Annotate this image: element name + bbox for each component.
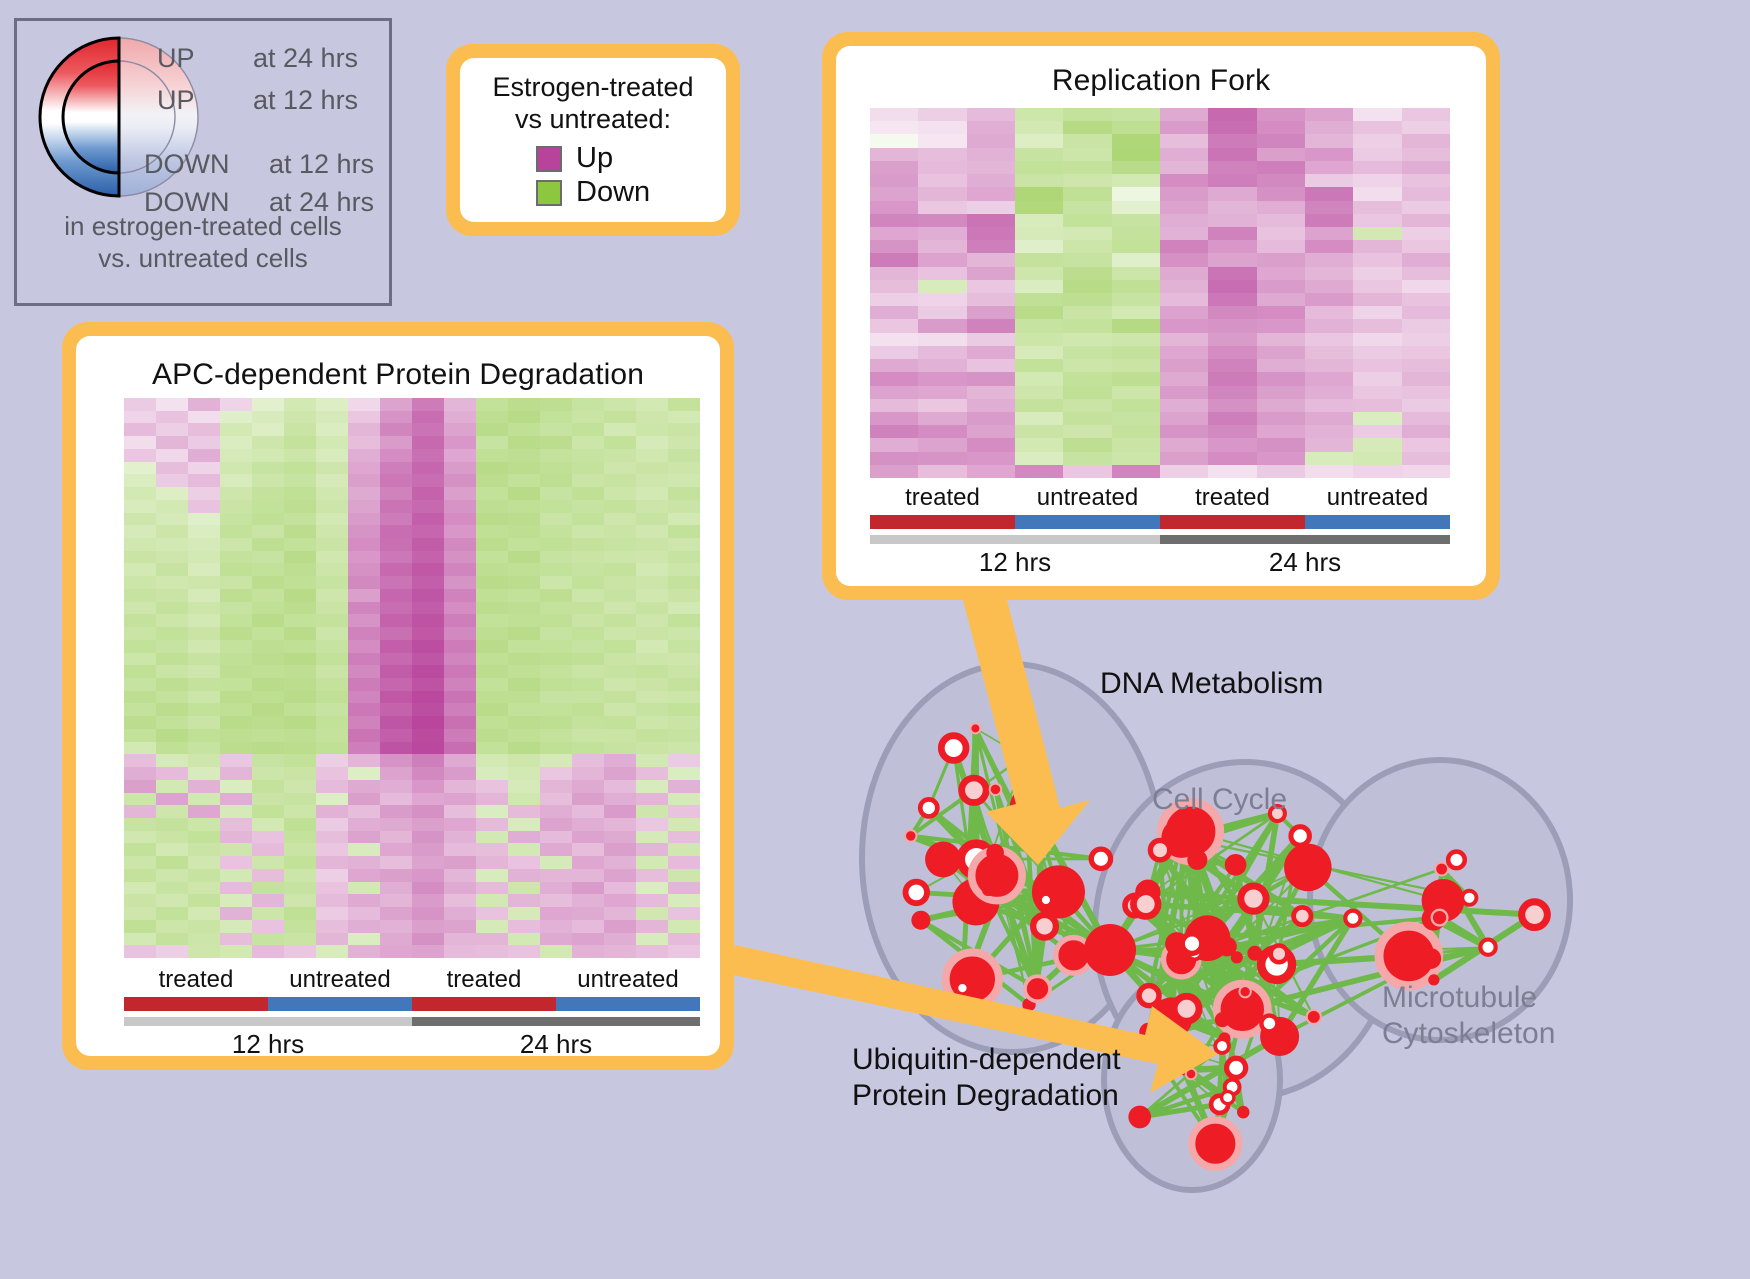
- heatmap-cell: [508, 920, 540, 933]
- heatmap-cell: [444, 907, 476, 920]
- heatmap-cell: [1112, 267, 1160, 280]
- heatmap-cell: [348, 933, 380, 946]
- heatmap-cell: [220, 563, 252, 576]
- heatmap-cell: [316, 920, 348, 933]
- heatmap-cell: [220, 665, 252, 678]
- heatmap-cell: [380, 563, 412, 576]
- heatmap-cell: [220, 423, 252, 436]
- heatmap-cell: [412, 563, 444, 576]
- heatmap-cell: [967, 372, 1015, 385]
- heatmap-cell: [124, 653, 156, 666]
- heatmap-cell: [1402, 280, 1450, 293]
- heatmap-cell: [604, 882, 636, 895]
- heatmap-cell: [380, 703, 412, 716]
- heatmap-cell: [870, 359, 918, 372]
- heatmap-cell: [444, 576, 476, 589]
- heatmap-cell: [1402, 134, 1450, 147]
- heatmap-cell: [316, 945, 348, 958]
- heatmap-cell: [636, 856, 668, 869]
- heatmap-cell: [1160, 121, 1208, 134]
- heatmap-cell: [252, 423, 284, 436]
- heatmap-cell: [444, 831, 476, 844]
- heatmap-cell: [1305, 148, 1353, 161]
- heatmap-cell: [316, 907, 348, 920]
- heatmap-cell: [1257, 174, 1305, 187]
- axis-treatment-segment: [412, 997, 556, 1011]
- heatmap-cell: [220, 742, 252, 755]
- heatmap-cell: [1160, 372, 1208, 385]
- heatmap-cell: [156, 920, 188, 933]
- heatmap-cell: [1208, 372, 1256, 385]
- heatmap-cell: [348, 920, 380, 933]
- legend-heading-line1: Estrogen-treated: [460, 72, 726, 104]
- network-node: [957, 982, 968, 993]
- heatmap-cell: [508, 945, 540, 958]
- heatmap-cell: [508, 525, 540, 538]
- heatmap-cell: [1015, 121, 1063, 134]
- heatmap-cell: [348, 462, 380, 475]
- heatmap-cell: [316, 678, 348, 691]
- heatmap-cell: [604, 818, 636, 831]
- heatmap-cell: [636, 513, 668, 526]
- heatmap-cell: [252, 640, 284, 653]
- heatmap-cell: [604, 742, 636, 755]
- heatmap-cell: [1160, 412, 1208, 425]
- heatmap-cell: [636, 627, 668, 640]
- heatmap-cell: [412, 742, 444, 755]
- heatmap-cell: [604, 691, 636, 704]
- heatmap-cell: [316, 933, 348, 946]
- heatmap-cell: [668, 563, 700, 576]
- heatmap-cell: [1402, 386, 1450, 399]
- heatmap-cell: [348, 640, 380, 653]
- heatmap-cell: [572, 856, 604, 869]
- heatmap-cell: [1257, 280, 1305, 293]
- heatmap-cell: [604, 894, 636, 907]
- heatmap-cell: [284, 500, 316, 513]
- heatmap-cell: [1257, 214, 1305, 227]
- key-footer-line1: in estrogen-treated cells: [17, 211, 389, 243]
- heatmap-cell: [252, 767, 284, 780]
- axis-treatment-bar: [870, 515, 1450, 529]
- axis-group-label: treated: [1160, 484, 1305, 512]
- heatmap-cell: [604, 716, 636, 729]
- heatmap-cell: [1402, 121, 1450, 134]
- heatmap-cell: [967, 452, 1015, 465]
- heatmap-cell: [1257, 319, 1305, 332]
- network-node: [1448, 852, 1465, 869]
- network-node: [1261, 1016, 1277, 1032]
- heatmap-cell: [668, 602, 700, 615]
- heatmap-cell: [1353, 267, 1401, 280]
- network-node: [1018, 751, 1030, 763]
- heatmap-cell: [348, 449, 380, 462]
- heatmap-cell: [1015, 438, 1063, 451]
- heatmap-cell: [316, 729, 348, 742]
- heatmap-cell: [444, 602, 476, 615]
- heatmap-cell: [476, 691, 508, 704]
- key-time-0: at 24 hrs: [253, 43, 358, 74]
- heatmap-cell: [668, 551, 700, 564]
- heatmap-cell: [124, 500, 156, 513]
- heatmap-cell: [967, 280, 1015, 293]
- heatmap-cell: [220, 945, 252, 958]
- heatmap-cell: [412, 436, 444, 449]
- network-node: [1294, 907, 1311, 924]
- heatmap-cell: [636, 589, 668, 602]
- heatmap-cell: [604, 665, 636, 678]
- heatmap-cell: [918, 134, 966, 147]
- heatmap-cell: [316, 767, 348, 780]
- heatmap-cell: [508, 653, 540, 666]
- heatmap-cell: [604, 449, 636, 462]
- heatmap-cell: [636, 487, 668, 500]
- heatmap-cell: [1015, 412, 1063, 425]
- heatmap-cell: [636, 780, 668, 793]
- heatmap-cell: [348, 538, 380, 551]
- heatmap-cell: [476, 793, 508, 806]
- heatmap-cell: [188, 449, 220, 462]
- heatmap-cell: [156, 500, 188, 513]
- heatmap-cell: [188, 665, 220, 678]
- heatmap-cell: [220, 869, 252, 882]
- heatmap-cell: [412, 780, 444, 793]
- heatmap-cell: [188, 411, 220, 424]
- heatmap-cell: [284, 487, 316, 500]
- heatmap-cell: [156, 538, 188, 551]
- heatmap-cell: [636, 525, 668, 538]
- heatmap-cell: [1063, 227, 1111, 240]
- heatmap-cell: [252, 589, 284, 602]
- heatmap-cell: [188, 640, 220, 653]
- heatmap-cell: [188, 945, 220, 958]
- heatmap-cell: [380, 500, 412, 513]
- heatmap-cell: [444, 449, 476, 462]
- heatmap-cell: [1402, 267, 1450, 280]
- heatmap-cell: [870, 465, 918, 478]
- heatmap-cell: [444, 474, 476, 487]
- heatmap-cell: [967, 121, 1015, 134]
- heatmap-cell: [1112, 319, 1160, 332]
- heatmap-cell: [540, 831, 572, 844]
- heatmap-cell: [124, 538, 156, 551]
- heatmap-cell: [918, 121, 966, 134]
- heatmap-cell: [967, 293, 1015, 306]
- heatmap-cell: [1063, 253, 1111, 266]
- heatmap-cell: [476, 525, 508, 538]
- heatmap-cell: [508, 640, 540, 653]
- heatmap-cell: [918, 214, 966, 227]
- heatmap-cell: [380, 754, 412, 767]
- heatmap-cell: [220, 856, 252, 869]
- heatmap-cell: [508, 691, 540, 704]
- heatmap-cell: [1402, 452, 1450, 465]
- heatmap-cell: [444, 614, 476, 627]
- heatmap-cell: [316, 793, 348, 806]
- heatmap-cell: [604, 538, 636, 551]
- heatmap-cell: [252, 856, 284, 869]
- axis-time-label: 12 hrs: [870, 547, 1160, 578]
- heatmap-cell: [1015, 108, 1063, 121]
- heatmap-cell: [1208, 253, 1256, 266]
- heatmap-cell: [604, 703, 636, 716]
- heatmap-cell: [412, 691, 444, 704]
- heatmap-cell: [412, 538, 444, 551]
- axis-time-labels: 12 hrs24 hrs: [124, 1029, 700, 1056]
- heatmap-cell: [444, 742, 476, 755]
- heatmap-cell: [1160, 359, 1208, 372]
- heatmap-cell: [188, 703, 220, 716]
- heatmap-cell: [412, 500, 444, 513]
- heatmap-cell: [918, 372, 966, 385]
- heatmap-cell: [380, 793, 412, 806]
- heatmap-cell: [476, 907, 508, 920]
- heatmap-cell: [918, 201, 966, 214]
- heatmap-cell: [188, 729, 220, 742]
- heatmap-cell: [540, 627, 572, 640]
- heatmap-cell: [476, 665, 508, 678]
- network-node: [1133, 892, 1158, 917]
- heatmap-cell: [476, 563, 508, 576]
- heatmap-cell: [540, 742, 572, 755]
- heatmap-cell: [124, 805, 156, 818]
- heatmap-cell: [668, 907, 700, 920]
- cluster-label-cell-cycle: Cell Cycle: [1152, 782, 1287, 818]
- heatmap-cell: [124, 602, 156, 615]
- heatmap-cell: [252, 907, 284, 920]
- heatmap-cell: [188, 474, 220, 487]
- network-node: [1215, 1039, 1229, 1053]
- heatmap-cell: [1063, 108, 1111, 121]
- heatmap-cell: [1015, 386, 1063, 399]
- heatmap-cell: [668, 640, 700, 653]
- heatmap-cell: [220, 754, 252, 767]
- heatmap-cell: [572, 487, 604, 500]
- heatmap-cell: [636, 691, 668, 704]
- heatmap-cell: [380, 742, 412, 755]
- network-node: [970, 723, 980, 733]
- heatmap-cell: [284, 614, 316, 627]
- network-node: [911, 911, 930, 930]
- heatmap-cell: [380, 665, 412, 678]
- heatmap-cell: [1305, 372, 1353, 385]
- heatmap-cell: [220, 894, 252, 907]
- heatmap-cell: [188, 742, 220, 755]
- heatmap-cell: [1208, 359, 1256, 372]
- heatmap-cell: [1015, 201, 1063, 214]
- heatmap-cell: [540, 398, 572, 411]
- heatmap-cell: [476, 742, 508, 755]
- heatmap-cell: [1160, 306, 1208, 319]
- heatmap-cell: [1160, 333, 1208, 346]
- heatmap-cell: [1305, 280, 1353, 293]
- heatmap-cell: [380, 869, 412, 882]
- heatmap-cell: [412, 856, 444, 869]
- heatmap-cell: [316, 614, 348, 627]
- heatmap-cell: [540, 907, 572, 920]
- heatmap-cell: [252, 793, 284, 806]
- heatmap-cell: [967, 267, 1015, 280]
- heatmap-cell: [316, 449, 348, 462]
- heatmap-cell: [1257, 161, 1305, 174]
- heatmap-cell: [636, 678, 668, 691]
- heatmap-cell: [1257, 134, 1305, 147]
- heatmap-cell: [572, 589, 604, 602]
- heatmap-cell: [668, 678, 700, 691]
- network-node: [1187, 850, 1207, 870]
- heatmap-cell: [1112, 253, 1160, 266]
- network-node: [1284, 844, 1332, 892]
- heatmap-cell: [124, 665, 156, 678]
- heatmap-cell: [156, 703, 188, 716]
- heatmap-cell: [124, 793, 156, 806]
- axis-treatment-bar: [124, 997, 700, 1011]
- heatmap-cell: [1112, 108, 1160, 121]
- heatmap-cell: [668, 538, 700, 551]
- heatmap-cell: [918, 465, 966, 478]
- heatmap-cell: [572, 742, 604, 755]
- heatmap-cell: [1015, 240, 1063, 253]
- apc-axis: treateduntreatedtreateduntreated12 hrs24…: [124, 966, 700, 1056]
- heatmap-cell: [1305, 174, 1353, 187]
- heatmap-cell: [444, 525, 476, 538]
- heatmap-cell: [540, 805, 572, 818]
- network-node: [1032, 865, 1085, 918]
- heatmap-cell: [572, 716, 604, 729]
- heatmap-cell: [412, 449, 444, 462]
- network-node: [1239, 986, 1250, 997]
- heatmap-cell: [284, 474, 316, 487]
- heatmap-cell: [1402, 240, 1450, 253]
- heatmap-cell: [476, 640, 508, 653]
- heatmap-cell: [412, 843, 444, 856]
- heatmap-cell: [412, 805, 444, 818]
- heatmap-cell: [188, 716, 220, 729]
- heatmap-cell: [636, 436, 668, 449]
- heatmap-cell: [1160, 267, 1208, 280]
- heatmap-cell: [572, 678, 604, 691]
- heatmap-cell: [188, 513, 220, 526]
- heatmap-cell: [1305, 108, 1353, 121]
- heatmap-cell: [1208, 134, 1256, 147]
- heatmap-cell: [508, 767, 540, 780]
- heatmap-cell: [444, 423, 476, 436]
- key-time-2: at 12 hrs: [269, 149, 374, 180]
- heatmap-cell: [870, 267, 918, 280]
- heatmap-cell: [1160, 134, 1208, 147]
- heatmap-cell: [636, 907, 668, 920]
- heatmap-cell: [156, 449, 188, 462]
- heatmap-cell: [572, 436, 604, 449]
- key-state-2: DOWN: [144, 149, 229, 180]
- heatmap-cell: [1353, 425, 1401, 438]
- heatmap-cell: [540, 793, 572, 806]
- heatmap-cell: [284, 856, 316, 869]
- heatmap-cell: [412, 907, 444, 920]
- heatmap-cell: [220, 920, 252, 933]
- heatmap-cell: [604, 589, 636, 602]
- heatmap-cell: [604, 869, 636, 882]
- heatmap-cell: [220, 767, 252, 780]
- heatmap-cell: [124, 754, 156, 767]
- heatmap-cell: [220, 805, 252, 818]
- heatmap-cell: [1063, 148, 1111, 161]
- heatmap-cell: [918, 148, 966, 161]
- heatmap-cell: [124, 691, 156, 704]
- heatmap-cell: [967, 425, 1015, 438]
- heatmap-cell: [252, 805, 284, 818]
- heatmap-cell: [668, 513, 700, 526]
- heatmap-cell: [1257, 452, 1305, 465]
- heatmap-cell: [540, 882, 572, 895]
- heatmap-cell: [156, 563, 188, 576]
- heatmap-cell: [412, 767, 444, 780]
- heatmap-cell: [348, 780, 380, 793]
- heatmap-cell: [380, 602, 412, 615]
- heatmap-cell: [668, 487, 700, 500]
- heatmap-cell: [572, 933, 604, 946]
- heatmap-cell: [636, 945, 668, 958]
- heatmap-cell: [412, 920, 444, 933]
- heatmap-cell: [252, 920, 284, 933]
- heatmap-cell: [1257, 399, 1305, 412]
- heatmap-cell: [918, 253, 966, 266]
- heatmap-cell: [1353, 134, 1401, 147]
- heatmap-cell: [967, 319, 1015, 332]
- axis-group-label: treated: [412, 966, 556, 994]
- heatmap-cell: [124, 945, 156, 958]
- heatmap-cell: [1353, 372, 1401, 385]
- network-node: [1182, 934, 1202, 954]
- heatmap-cell: [380, 640, 412, 653]
- heatmap-cell: [870, 293, 918, 306]
- heatmap-cell: [252, 933, 284, 946]
- heatmap-cell: [476, 462, 508, 475]
- legend-items: Up Down: [460, 142, 726, 210]
- heatmap-cell: [1208, 174, 1256, 187]
- heatmap-cell: [668, 411, 700, 424]
- heatmap-cell: [156, 525, 188, 538]
- heatmap-cell: [284, 818, 316, 831]
- heatmap-cell: [412, 474, 444, 487]
- heatmap-cell: [348, 513, 380, 526]
- heatmap-cell: [348, 525, 380, 538]
- heatmap-cell: [1208, 108, 1256, 121]
- heatmap-cell: [124, 589, 156, 602]
- heatmap-cell: [668, 793, 700, 806]
- heatmap-cell: [252, 563, 284, 576]
- heatmap-cell: [1257, 306, 1305, 319]
- heatmap-cell: [604, 398, 636, 411]
- heatmap-cell: [1353, 187, 1401, 200]
- heatmap-cell: [156, 474, 188, 487]
- heatmap-cell: [284, 703, 316, 716]
- heatmap-cell: [604, 653, 636, 666]
- heatmap-cell: [508, 614, 540, 627]
- heatmap-cell: [284, 793, 316, 806]
- axis-time-segment: [412, 1017, 700, 1026]
- heatmap-cell: [1015, 425, 1063, 438]
- network-node: [1231, 951, 1243, 963]
- heatmap-cell: [156, 767, 188, 780]
- heatmap-cell: [1015, 267, 1063, 280]
- heatmap-cell: [252, 729, 284, 742]
- heatmap-cell: [220, 525, 252, 538]
- cluster-label-ubiquitin: Ubiquitin-dependent Protein Degradation: [852, 1042, 1121, 1114]
- heatmap-cell: [967, 386, 1015, 399]
- heatmap-cell: [220, 831, 252, 844]
- network-node: [1307, 1010, 1321, 1024]
